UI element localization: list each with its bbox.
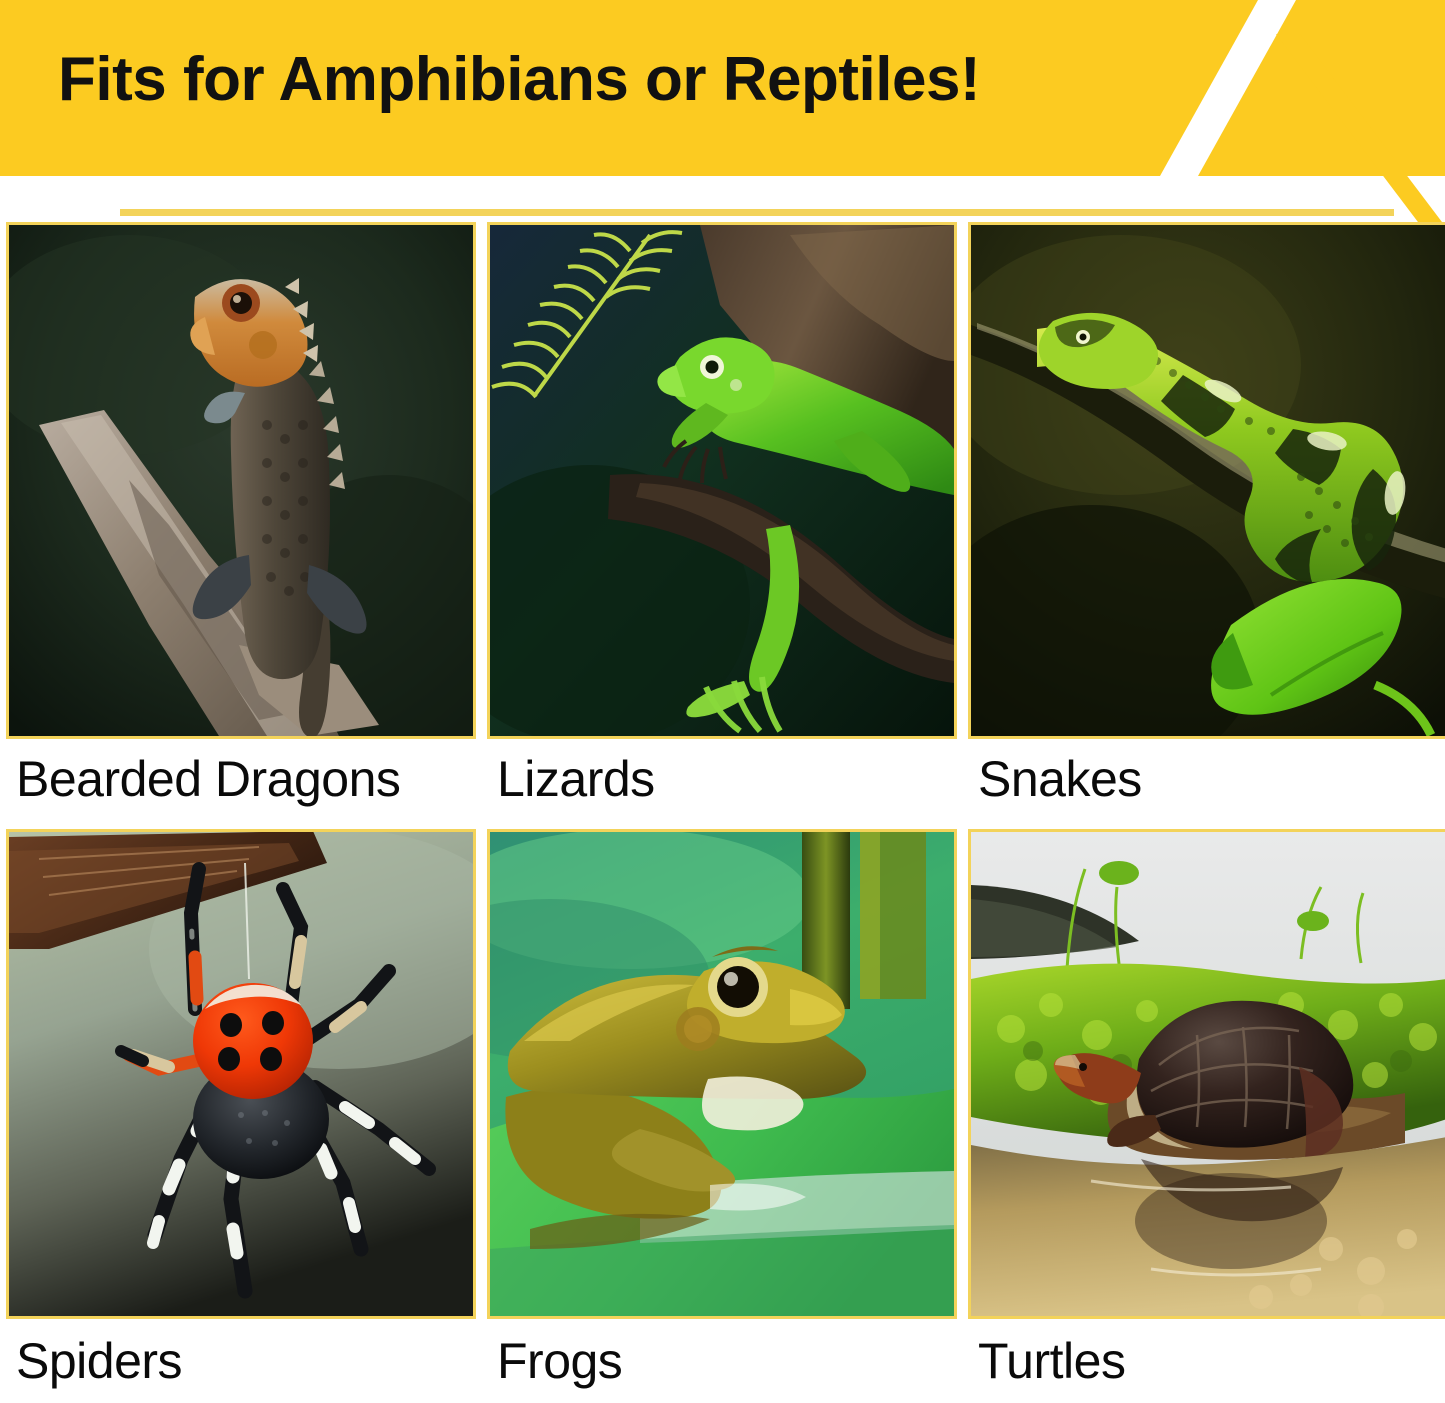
caption-bearded-dragons: Bearded Dragons	[6, 739, 476, 820]
photo-bearded-dragon	[6, 222, 476, 739]
header-banner: Fits for Amphibians or Reptiles!	[0, 0, 1445, 222]
photo-snake	[968, 222, 1445, 739]
grid-cell-turtles: Turtles	[968, 829, 1445, 1403]
caption-snakes: Snakes	[968, 739, 1445, 820]
grid-cell-snakes: Snakes	[968, 222, 1445, 829]
photo-lizard	[487, 222, 957, 739]
grid-cell-spiders: Spiders	[6, 829, 476, 1403]
photo-frog	[487, 829, 957, 1319]
header-underline-rule	[120, 209, 1394, 216]
photo-spider	[6, 829, 476, 1319]
grid-cell-frogs: Frogs	[487, 829, 957, 1403]
photo-turtle	[968, 829, 1445, 1319]
caption-turtles: Turtles	[968, 1319, 1445, 1394]
caption-frogs: Frogs	[487, 1319, 957, 1394]
grid-cell-lizards: Lizards	[487, 222, 957, 829]
caption-spiders: Spiders	[6, 1319, 476, 1394]
grid-cell-bearded-dragons: Bearded Dragons	[6, 222, 476, 829]
animal-grid: Bearded Dragons	[0, 222, 1445, 1403]
caption-lizards: Lizards	[487, 739, 957, 820]
page-title: Fits for Amphibians or Reptiles!	[58, 47, 980, 112]
